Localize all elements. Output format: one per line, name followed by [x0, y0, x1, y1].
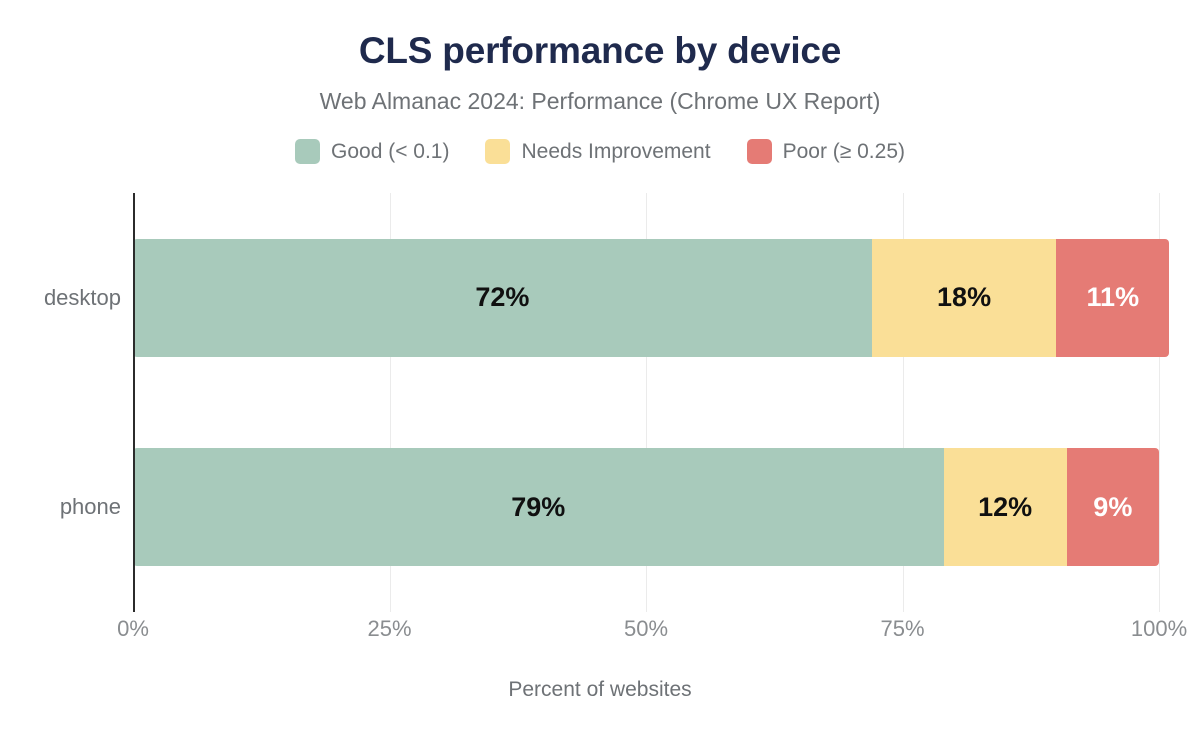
bar-segment-desktop-1[interactable]: 18%: [872, 239, 1057, 357]
legend-item-good[interactable]: Good (< 0.1): [295, 139, 449, 164]
bar-segment-phone-2[interactable]: 9%: [1067, 448, 1159, 566]
bar-track: 72%18%11%: [133, 239, 1159, 357]
legend-item-poor[interactable]: Poor (≥ 0.25): [747, 139, 905, 164]
bar-value-label: 72%: [475, 284, 529, 311]
legend-label-good: Good (< 0.1): [331, 140, 449, 164]
bar-segment-desktop-0[interactable]: 72%: [133, 239, 872, 357]
bar-value-label: 79%: [511, 494, 565, 521]
x-tick-0: 0%: [117, 616, 149, 642]
bar-value-label: 18%: [937, 284, 991, 311]
legend-label-poor: Poor (≥ 0.25): [783, 140, 905, 164]
chart-subtitle: Web Almanac 2024: Performance (Chrome UX…: [0, 88, 1200, 115]
bar-value-label: 11%: [1087, 284, 1140, 311]
y-tick-phone: phone: [60, 494, 121, 520]
bar-row-desktop: 72%18%11%: [133, 239, 1159, 357]
bar-segment-phone-0[interactable]: 79%: [133, 448, 944, 566]
bar-segment-desktop-2[interactable]: 11%: [1056, 239, 1169, 357]
legend-swatch-poor-icon: [747, 139, 772, 164]
bar-value-label: 12%: [978, 494, 1032, 521]
bar-track: 79%12%9%: [133, 448, 1159, 566]
legend-swatch-needs-improvement-icon: [485, 139, 510, 164]
x-tick-75: 75%: [880, 616, 924, 642]
legend-swatch-good-icon: [295, 139, 320, 164]
legend-label-needs-improvement: Needs Improvement: [521, 140, 710, 164]
x-tick-100: 100%: [1131, 616, 1187, 642]
bar-segment-phone-1[interactable]: 12%: [944, 448, 1067, 566]
x-axis-title: Percent of websites: [0, 678, 1200, 702]
chart-legend: Good (< 0.1) Needs Improvement Poor (≥ 0…: [0, 139, 1200, 164]
y-axis-line: [133, 193, 135, 612]
plot-area: 72%18%11%79%12%9%: [133, 193, 1159, 612]
bar-row-phone: 79%12%9%: [133, 448, 1159, 566]
chart-container: CLS performance by device Web Almanac 20…: [0, 0, 1200, 742]
chart-title: CLS performance by device: [0, 30, 1200, 73]
legend-item-needs-improvement[interactable]: Needs Improvement: [485, 139, 710, 164]
y-tick-desktop: desktop: [44, 285, 121, 311]
x-tick-50: 50%: [624, 616, 668, 642]
bar-value-label: 9%: [1093, 494, 1132, 521]
x-tick-25: 25%: [367, 616, 411, 642]
